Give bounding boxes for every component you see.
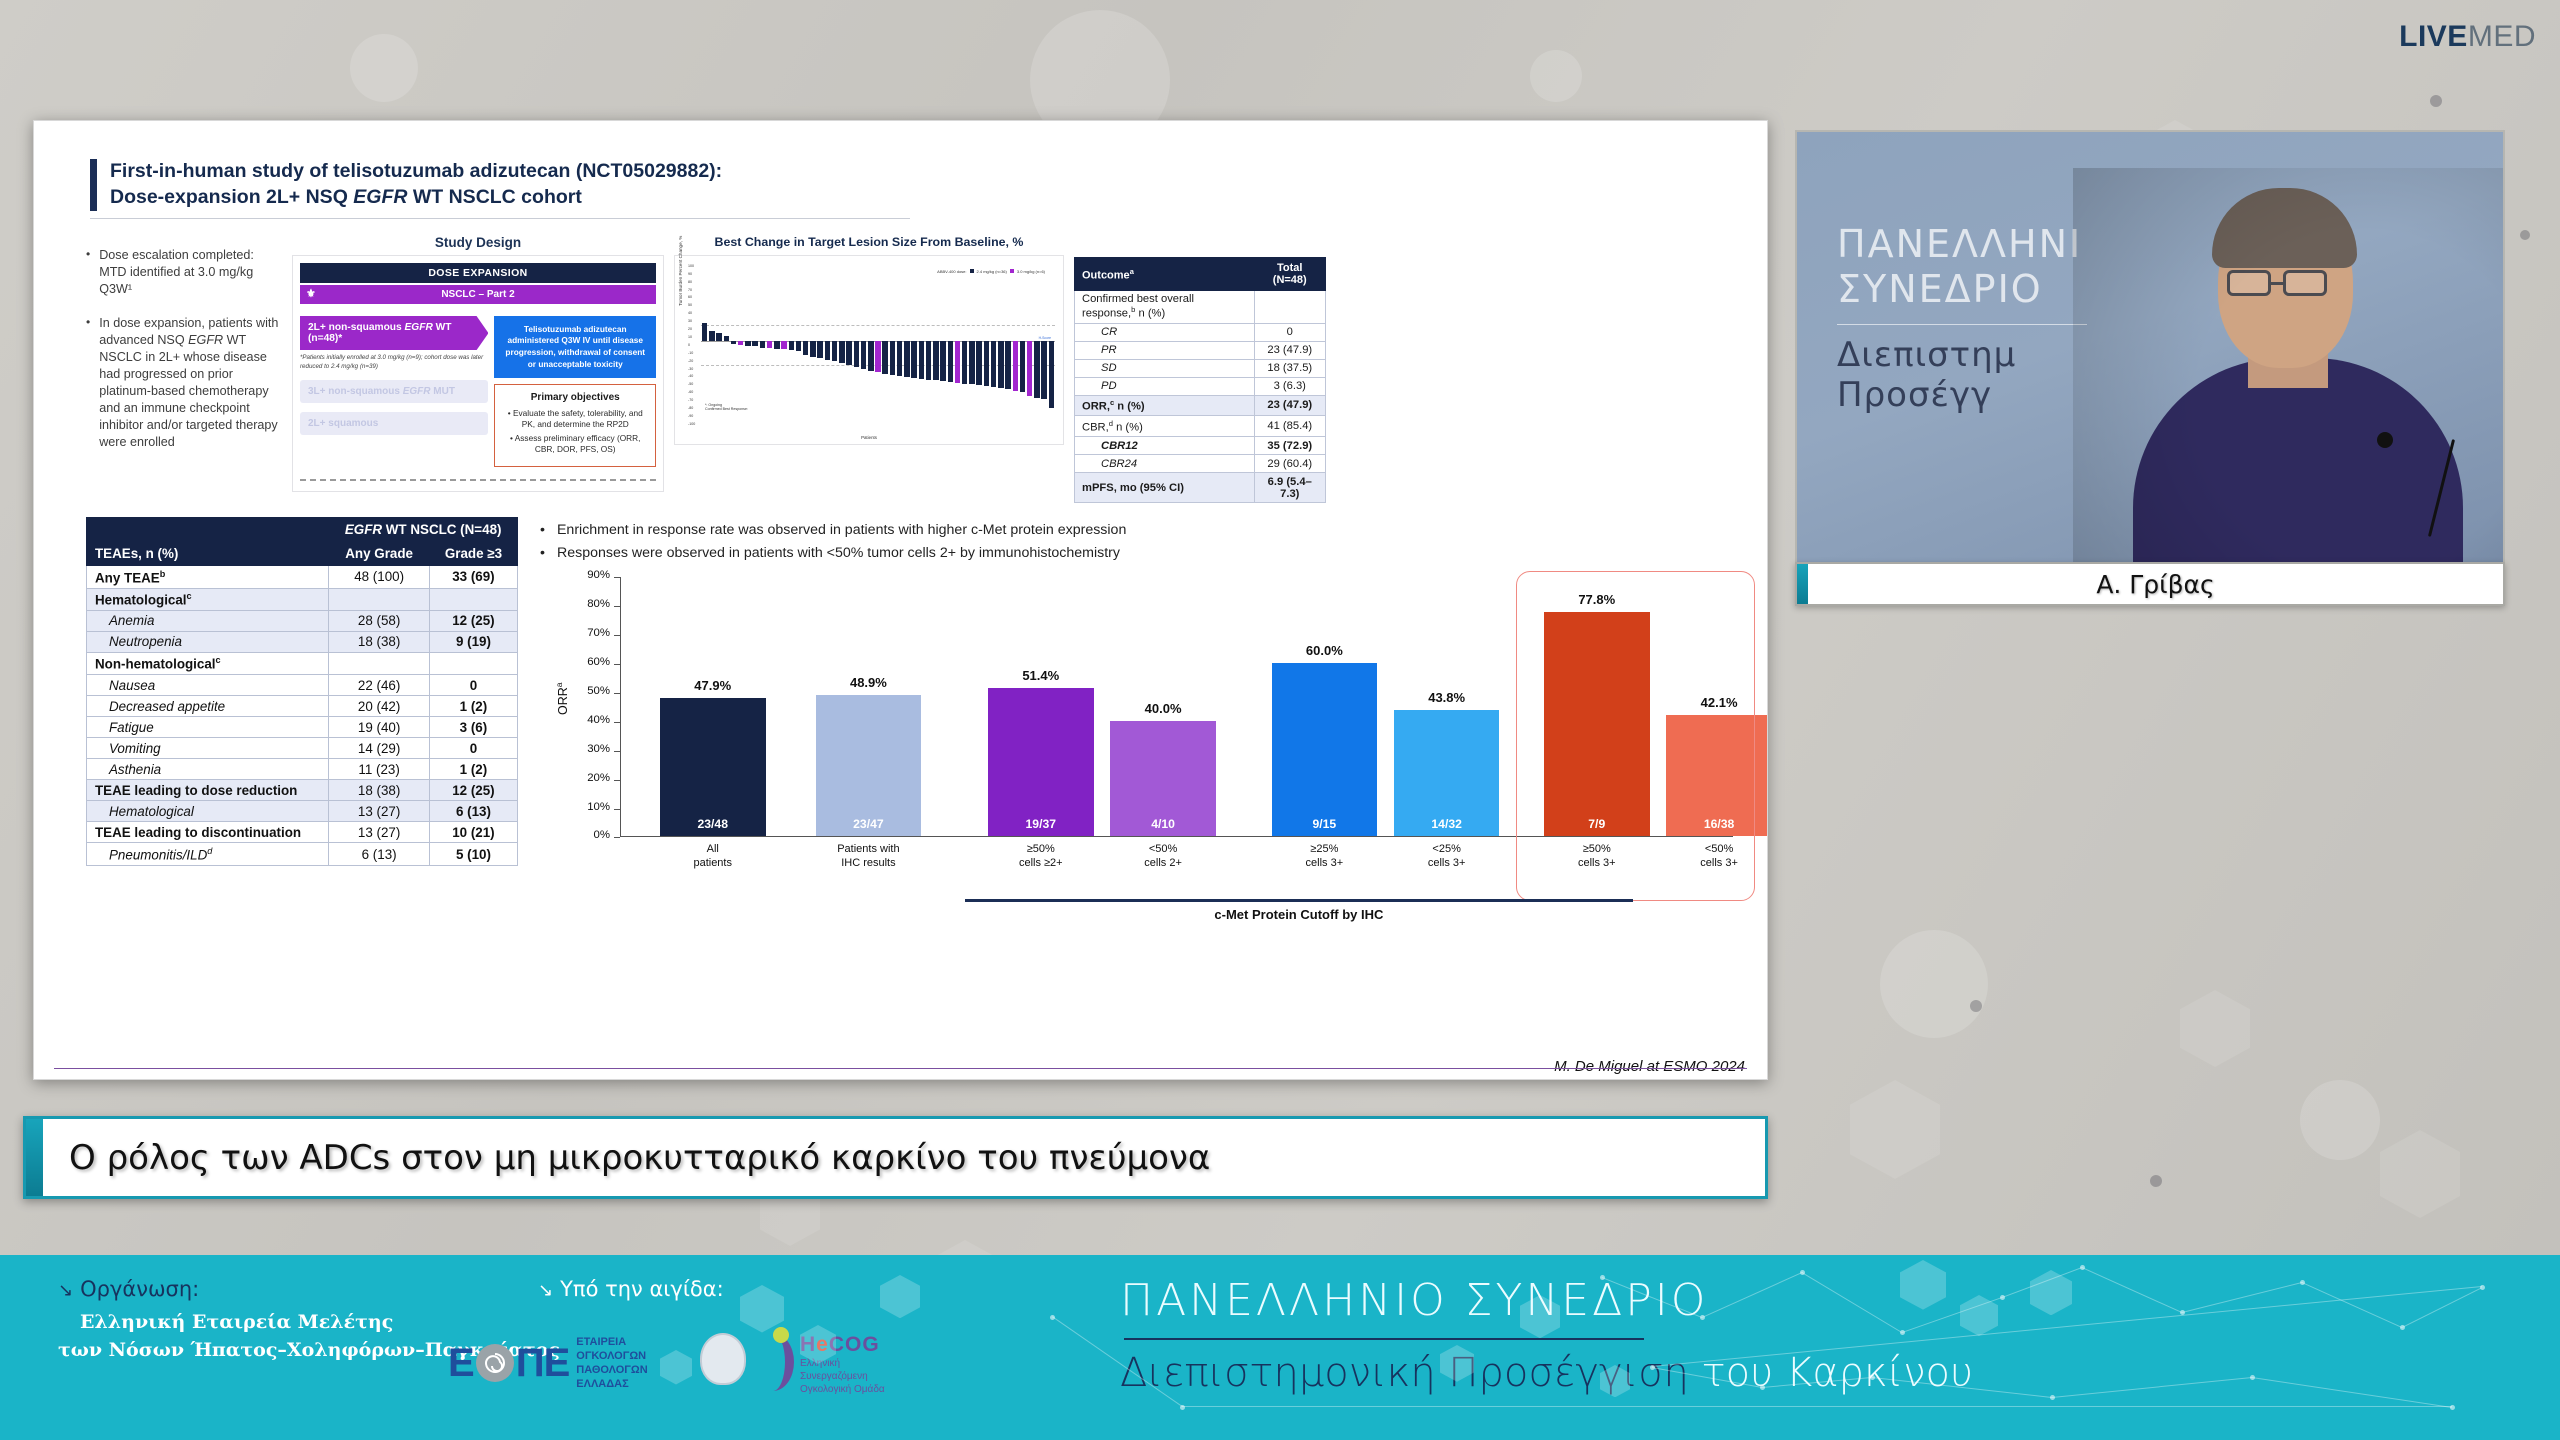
- orr-y-tick: 50%: [570, 685, 610, 697]
- outcome-row-label: PR: [1075, 341, 1255, 359]
- outcome-row-label: mPFS, mo (95% CI): [1075, 473, 1255, 503]
- teae-grade3: 0: [429, 675, 517, 696]
- outcome-row-label: ORR,c n (%): [1075, 395, 1255, 416]
- teae-grade3: 6 (13): [429, 801, 517, 822]
- teae-any-grade: 22 (46): [329, 675, 430, 696]
- orr-x-category: <25%cells 3+: [1360, 843, 1532, 869]
- orr-bar-value-label: 47.9%: [649, 678, 777, 693]
- waterfall-bar: [839, 341, 844, 363]
- bullet-dot-icon: •: [86, 315, 90, 450]
- teae-any-grade: 18 (38): [329, 631, 430, 652]
- teae-any-grade: 14 (29): [329, 738, 430, 759]
- waterfall-bar: [1027, 341, 1032, 396]
- page-footer: ↘Οργάνωση: Ελληνική Εταιρεία Μελέτης των…: [0, 1255, 2560, 1440]
- footer-cube: [880, 1275, 920, 1318]
- study-design-divider: [300, 479, 656, 481]
- waterfall-bar: [760, 341, 765, 348]
- orr-bar-fraction-label: 16/38: [1666, 817, 1768, 831]
- teae-grade3: [429, 652, 517, 674]
- livemed-logo-light: MED: [2468, 20, 2536, 53]
- waterfall-title: Best Change in Target Lesion Size From B…: [674, 235, 1064, 249]
- dot-icon: [773, 1327, 789, 1343]
- background-circle: [1530, 50, 1582, 102]
- waterfall-y-tick: -70: [688, 398, 693, 402]
- table-row: mPFS, mo (95% CI)6.9 (5.4–7.3): [1075, 473, 1326, 503]
- hecog-logo: HeCOG Ελληνική Συνεργαζόμενη Ογκολογική …: [700, 1333, 885, 1396]
- table-row: Neutropenia18 (38)9 (19): [87, 631, 518, 652]
- outcome-row-value: 41 (85.4): [1254, 416, 1325, 437]
- waterfall-legend: ABBV-400 dose: 2.4 mg/kg (n=36) 3.0 mg/k…: [937, 269, 1045, 274]
- table-row: Any TEAEb48 (100)33 (69): [87, 566, 518, 588]
- waterfall-bar: [984, 341, 989, 386]
- list-item: • Enrichment in response rate was observ…: [540, 521, 1743, 540]
- dose-expansion-banner: DOSE EXPANSION: [300, 263, 656, 283]
- table-row: Asthenia11 (23)1 (2): [87, 759, 518, 780]
- bullet-text: Responses were observed in patients with…: [557, 544, 1120, 563]
- video-vignette: [2073, 168, 2503, 568]
- teae-grade3: [429, 588, 517, 610]
- legend-swatch-24: [970, 269, 974, 273]
- waterfall-bar: [962, 341, 967, 384]
- table-row: TEAE leading to discontinuation13 (27)10…: [87, 822, 518, 843]
- orr-bar-value-label: 51.4%: [977, 668, 1105, 683]
- waterfall-bar: [861, 341, 866, 369]
- waterfall-bar: [1020, 341, 1025, 392]
- teae-any-grade: [329, 588, 430, 610]
- teae-grade3: 12 (25): [429, 610, 517, 631]
- orr-x-category: Allpatients: [627, 843, 799, 869]
- orr-bar-value-label: 43.8%: [1383, 690, 1511, 705]
- teae-any-grade: 13 (27): [329, 822, 430, 843]
- table-row: Non-hematologicalc: [87, 652, 518, 674]
- cohort-arrow-2l-nonsq: 2L+ non-squamous EGFR WT (n=48)*: [300, 316, 488, 350]
- waterfall-y-tick: 90: [688, 272, 692, 276]
- orr-bar-fraction-label: 23/47: [816, 817, 922, 831]
- swoosh-icon: [752, 1333, 794, 1391]
- waterfall-bar: [796, 341, 801, 351]
- teae-row-label: Vomiting: [87, 738, 329, 759]
- outcome-row-label: CR: [1075, 323, 1255, 341]
- waterfall-bar: [738, 341, 743, 345]
- outcome-row-label: Confirmed best overall response,b n (%): [1075, 290, 1255, 323]
- slide-bottom-rule: [54, 1068, 1747, 1069]
- teae-any-grade: 19 (40): [329, 717, 430, 738]
- table-row: Decreased appetite20 (42)1 (2): [87, 696, 518, 717]
- orr-x-category: <50%cells 2+: [1077, 843, 1249, 869]
- teae-grade3: 33 (69): [429, 566, 517, 588]
- teae-row-label: Non-hematologicalc: [87, 652, 329, 674]
- outcome-row-label: CBR,d n (%): [1075, 416, 1255, 437]
- primary-objectives-box: Primary objectives • Evaluate the safety…: [494, 384, 656, 466]
- list-item: • Responses were observed in patients wi…: [540, 544, 1743, 563]
- arrow-down-right-icon: ↘: [538, 1280, 553, 1300]
- waterfall-bar: [731, 341, 736, 344]
- teae-grade3-header: Grade ≥3: [429, 542, 517, 566]
- orr-x-category: Patients withIHC results: [782, 843, 954, 869]
- teae-any-grade: 13 (27): [329, 801, 430, 822]
- waterfall-bar: [868, 341, 873, 371]
- table-row: CBR1235 (72.9): [1075, 437, 1326, 455]
- teae-grade3: 12 (25): [429, 780, 517, 801]
- background-polygon: [1850, 1080, 1940, 1179]
- background-dot: [2150, 1175, 2162, 1187]
- objective-item: • Assess preliminary efficacy (ORR, CBR,…: [500, 433, 650, 455]
- eope-letters: E ΠE: [448, 1341, 569, 1386]
- background-dot: [2520, 230, 2530, 240]
- orr-bar-chart: ORRa 47.9%23/48Allpatients48.9%23/47Pati…: [540, 577, 1743, 877]
- orr-y-tickmark: [614, 837, 620, 838]
- classical-head-icon: [700, 1333, 746, 1385]
- table-row: Fatigue19 (40)3 (6): [87, 717, 518, 738]
- waterfall-bar: [774, 341, 779, 349]
- backdrop-line1: ΠΑΝΕΛΛΗΝΙ: [1837, 222, 2087, 267]
- teae-grade3: 0: [429, 738, 517, 759]
- talk-title: Ο ρόλος των ADCs στον μη μικροκυτταρικό …: [69, 1138, 1210, 1178]
- orr-y-tickmark: [614, 809, 620, 810]
- slide-title-line1: First-in-human study of telisotuzumab ad…: [110, 159, 722, 185]
- orr-bar-fraction-label: 9/15: [1272, 817, 1378, 831]
- footer-network-line: [2082, 1267, 2182, 1313]
- conference-title-rule: [1124, 1338, 1644, 1340]
- orr-y-tickmark: [614, 780, 620, 781]
- speaker-video[interactable]: ΠΑΝΕΛΛΗΝΙ ΣΥΝΕΔΡΙΟ Διεπιστημ Προσέγγ: [1795, 130, 2505, 570]
- speaker-name-bar: Α. Γρίβας: [1795, 562, 2505, 606]
- objective-item: • Evaluate the safety, tolerability, and…: [500, 408, 650, 430]
- orr-bar-fraction-label: 23/48: [660, 817, 766, 831]
- list-item: • Dose escalation completed: MTD identif…: [86, 247, 280, 298]
- orr-y-tickmark: [614, 577, 620, 578]
- outcome-row-label: CBR12: [1075, 437, 1255, 455]
- outcome-row-value: 35 (72.9): [1254, 437, 1325, 455]
- table-row: PD3 (6.3): [1075, 377, 1326, 395]
- footer-cube: [740, 1285, 784, 1333]
- waterfall-bar: [846, 341, 851, 365]
- footer-network-line: [1182, 1406, 2452, 1407]
- waterfall-bar: [897, 341, 902, 377]
- table-row: Vomiting14 (29)0: [87, 738, 518, 759]
- waterfall-bar: [911, 341, 916, 378]
- teae-group-header: EGFR WT NSCLC (N=48): [329, 518, 518, 542]
- waterfall-y-tick: 30: [688, 319, 692, 323]
- orr-x-category: <50%cells 3+: [1633, 843, 1768, 869]
- outcome-row-value: [1254, 290, 1325, 323]
- footer-network-line: [2302, 1282, 2402, 1328]
- waterfall-y-tick: -100: [688, 422, 695, 426]
- hecog-subtitle: Ελληνική Συνεργαζόμενη Ογκολογική Ομάδα: [800, 1357, 885, 1396]
- teae-row-label: Hematologicalc: [87, 588, 329, 610]
- backdrop-line2: ΣΥΝΕΔΡΙΟ: [1837, 267, 2087, 312]
- organizer-name-line1: Ελληνική Εταιρεία Μελέτης: [80, 1309, 560, 1337]
- orr-y-tick: 40%: [570, 714, 610, 726]
- teae-row-label: TEAE leading to discontinuation: [87, 822, 329, 843]
- waterfall-bar: [998, 341, 1003, 388]
- footer-auspices-block: ↘Υπό την αιγίδα:: [538, 1277, 724, 1301]
- teae-any-grade: 48 (100): [329, 566, 430, 588]
- orr-bar-value-label: 60.0%: [1260, 643, 1388, 658]
- outcome-row-value: 3 (6.3): [1254, 377, 1325, 395]
- list-item: • In dose expansion, patients with advan…: [86, 315, 280, 450]
- waterfall-bar: [955, 341, 960, 383]
- waterfall-bar: [969, 341, 974, 384]
- table-row: CBR,d n (%)41 (85.4): [1075, 416, 1326, 437]
- outcome-col-header: Outcomea: [1075, 257, 1255, 290]
- outcome-row-value: 23 (47.9): [1254, 395, 1325, 416]
- orr-y-tick: 0%: [570, 829, 610, 841]
- waterfall-x-axis-label: Patients: [679, 435, 1059, 440]
- waterfall-bar: [716, 333, 721, 341]
- waterfall-y-tick: 70: [688, 288, 692, 292]
- orr-y-tickmark: [614, 751, 620, 752]
- orr-y-tick: 80%: [570, 598, 610, 610]
- outcome-row-value: 0: [1254, 323, 1325, 341]
- waterfall-bar: [745, 341, 750, 346]
- footer-conference-title: ΠΑΝΕΛΛΗΝΙΟ ΣΥΝΕΔΡΙΟ Διεπιστημονική Προσέ…: [1120, 1275, 1973, 1396]
- eope-subtitle: ΕΤΑΙΡΕΙΑ ΟΓΚΟΛΟΓΩΝ ΠΑΘΟΛΟΓΩΝ ΕΛΛΑΔΑΣ: [576, 1335, 647, 1391]
- waterfall-y-tick: -90: [688, 414, 693, 418]
- background-polygon: [2180, 990, 2250, 1067]
- background-polygon: [2380, 1130, 2460, 1218]
- teae-any-grade: 6 (13): [329, 843, 430, 865]
- backdrop-line3: Διεπιστημ: [1837, 335, 2087, 375]
- orr-bar-fraction-label: 7/9: [1544, 817, 1650, 831]
- waterfall-y-tick: -30: [688, 367, 693, 371]
- teae-grade3: 5 (10): [429, 843, 517, 865]
- teae-any-grade: [329, 652, 430, 674]
- outcome-row-label: PD: [1075, 377, 1255, 395]
- cohort-ghost-3l-mut: 3L+ non-squamous EGFR MUT: [300, 380, 488, 403]
- waterfall-y-tick: 50: [688, 303, 692, 307]
- teae-any-grade: 28 (58): [329, 610, 430, 631]
- waterfall-bar: [904, 341, 909, 377]
- orr-bar: [988, 688, 1094, 836]
- table-row: TEAE leading to dose reduction18 (38)12 …: [87, 780, 518, 801]
- outcome-row-label: CBR24: [1075, 455, 1255, 473]
- teae-row-label: Anemia: [87, 610, 329, 631]
- bullet-text: In dose expansion, patients with advance…: [99, 315, 280, 450]
- teae-grade3: 10 (21): [429, 822, 517, 843]
- slide-citation: M. De Miguel at ESMO 2024: [1554, 1058, 1745, 1075]
- outcome-row-value: 29 (60.4): [1254, 455, 1325, 473]
- footer-cube: [2030, 1270, 2072, 1315]
- waterfall-bar: [976, 341, 981, 385]
- waterfall-y-axis-label: Tumor Burden Percent Change, %: [678, 236, 683, 306]
- waterfall-bar: [810, 341, 815, 357]
- conference-title-line2: Διεπιστημονική Προσέγγιση του Καρκίνου: [1120, 1350, 1973, 1396]
- backdrop-rule: [1837, 324, 2087, 325]
- waterfall-bar: [875, 341, 880, 373]
- orr-bar: [1544, 612, 1650, 837]
- table-row: Confirmed best overall response,b n (%): [1075, 290, 1326, 323]
- waterfall-y-tick: -60: [688, 390, 693, 394]
- waterfall-bar: [919, 341, 924, 379]
- waterfall-bar: [940, 341, 945, 381]
- waterfall-legend-title: ABBV-400 dose:: [937, 269, 966, 274]
- waterfall-hscore-label: H-Score: [1039, 336, 1051, 340]
- background-dot: [2430, 95, 2442, 107]
- teae-anygrade-header: Any Grade: [329, 542, 430, 566]
- teae-grade3: 3 (6): [429, 717, 517, 738]
- waterfall-bar: [781, 341, 786, 349]
- teae-row-label: Neutropenia: [87, 631, 329, 652]
- waterfall-plot-area: H-Score: [701, 262, 1055, 420]
- table-row: Hematologicalc: [87, 588, 518, 610]
- lung-icon: ⚜: [306, 287, 316, 300]
- bullet-dot-icon: •: [540, 521, 545, 540]
- waterfall-y-tick: 80: [688, 280, 692, 284]
- waterfall-bar: [1041, 341, 1046, 399]
- teae-row-label: Fatigue: [87, 717, 329, 738]
- waterfall-bar: [752, 341, 757, 347]
- video-backdrop-text: ΠΑΝΕΛΛΗΝΙ ΣΥΝΕΔΡΙΟ Διεπιστημ Προσέγγ: [1837, 222, 2087, 415]
- orr-y-tick: 90%: [570, 569, 610, 581]
- orr-y-tick: 30%: [570, 743, 610, 755]
- nsclc-part-banner: ⚜ NSCLC – Part 2: [300, 285, 656, 304]
- orr-bar-fraction-label: 4/10: [1110, 817, 1216, 831]
- speaker-accent-bar: [1797, 564, 1808, 604]
- cmet-underline: [965, 899, 1633, 902]
- orr-y-tick: 10%: [570, 801, 610, 813]
- waterfall-bar: [890, 341, 895, 375]
- teae-grade3: 9 (19): [429, 631, 517, 652]
- teae-any-grade: 11 (23): [329, 759, 430, 780]
- waterfall-bar: [702, 323, 707, 341]
- orr-y-axis-label: ORRa: [554, 683, 570, 716]
- orr-bar-fraction-label: 14/32: [1394, 817, 1500, 831]
- table-row: ORR,c n (%)23 (47.9): [1075, 395, 1326, 416]
- teae-row-label: Pneumonitis/ILDd: [87, 843, 329, 865]
- orr-plot-area: 47.9%23/48Allpatients48.9%23/47Patients …: [620, 577, 1733, 837]
- organizer-label-row: ↘Οργάνωση:: [58, 1277, 560, 1301]
- teae-row-label: Decreased appetite: [87, 696, 329, 717]
- waterfall-bar: [854, 341, 859, 367]
- outcome-total-header: Total (N=48): [1254, 257, 1325, 290]
- orr-bar-fraction-label: 19/37: [988, 817, 1094, 831]
- slide-title-line2: Dose-expansion 2L+ NSQ EGFR WT NSCLC coh…: [110, 185, 722, 211]
- legend-swatch-30: [1010, 269, 1014, 273]
- orr-y-tickmark: [614, 635, 620, 636]
- teae-row-label: Asthenia: [87, 759, 329, 780]
- livemed-logo-bold: LIVE: [2399, 20, 2468, 53]
- legend-label-30: 3.0 mg/kg (n=6): [1017, 269, 1045, 274]
- waterfall-bar: [1013, 341, 1018, 391]
- table-row: Anemia28 (58)12 (25): [87, 610, 518, 631]
- orr-y-tickmark: [614, 722, 620, 723]
- footer-network-line: [2052, 1377, 2252, 1398]
- talk-accent-bar: [26, 1119, 43, 1196]
- teae-row-label: TEAE leading to dose reduction: [87, 780, 329, 801]
- waterfall-bar: [948, 341, 953, 382]
- waterfall-bar: [991, 341, 996, 388]
- teae-table: TEAEs, n (%) EGFR WT NSCLC (N=48) Any Gr…: [86, 517, 518, 866]
- organizer-label: Οργάνωση:: [80, 1277, 199, 1301]
- waterfall-y-tick: 0: [688, 343, 690, 347]
- spiral-icon: [476, 1344, 514, 1382]
- orr-x-axis-label: c-Met Protein Cutoff by IHC: [954, 907, 1644, 922]
- waterfall-bar: [724, 336, 729, 341]
- slide-left-bullets: • Dose escalation completed: MTD identif…: [86, 235, 286, 503]
- outcome-row-value: 6.9 (5.4–7.3): [1254, 473, 1325, 503]
- table-row: Hematological13 (27)6 (13): [87, 801, 518, 822]
- teae-grade3: 1 (2): [429, 696, 517, 717]
- waterfall-y-tick: -50: [688, 382, 693, 386]
- slide-title-block: First-in-human study of telisotuzumab ad…: [90, 159, 910, 219]
- background-dot: [1970, 1000, 1982, 1012]
- background-circle: [350, 34, 418, 102]
- waterfall-y-tick: 40: [688, 311, 692, 315]
- bullet-text: Dose escalation completed: MTD identifie…: [99, 247, 280, 298]
- study-design-panel: Study Design DOSE EXPANSION ⚜ NSCLC – Pa…: [292, 235, 664, 503]
- teae-table-panel: TEAEs, n (%) EGFR WT NSCLC (N=48) Any Gr…: [86, 517, 518, 877]
- study-design-heading: Study Design: [292, 235, 664, 250]
- orr-y-tickmark: [614, 606, 620, 607]
- background-circle: [1880, 930, 1988, 1038]
- waterfall-dashline-pos20: [701, 325, 1055, 326]
- orr-bar: [660, 698, 766, 836]
- waterfall-bar: [832, 341, 837, 362]
- orr-bar: [816, 695, 922, 836]
- presentation-slide[interactable]: First-in-human study of telisotuzumab ad…: [33, 120, 1768, 1080]
- slide-title: First-in-human study of telisotuzumab ad…: [110, 159, 722, 211]
- teae-row-label: Hematological: [87, 801, 329, 822]
- orr-y-tickmark: [614, 664, 620, 665]
- teae-row-label: Any TEAEb: [87, 566, 329, 588]
- orr-bar-value-label: 77.8%: [1533, 592, 1661, 607]
- teae-col-header: TEAEs, n (%): [87, 518, 329, 566]
- waterfall-chart-panel: Best Change in Target Lesion Size From B…: [674, 235, 1064, 503]
- nsclc-part-label: NSCLC – Part 2: [441, 289, 514, 300]
- teae-grade3: 1 (2): [429, 759, 517, 780]
- orr-bar-value-label: 40.0%: [1099, 701, 1227, 716]
- waterfall-bar: [709, 331, 714, 340]
- background-circle: [2300, 1080, 2380, 1160]
- bullet-text: Enrichment in response rate was observed…: [557, 521, 1126, 540]
- orr-y-tick: 20%: [570, 772, 610, 784]
- waterfall-bar: [882, 341, 887, 374]
- orr-bar-value-label: 48.9%: [804, 675, 932, 690]
- talk-title-banner: Ο ρόλος των ADCs στον μη μικροκυτταρικό …: [23, 1116, 1768, 1199]
- waterfall-y-tick: 10: [688, 335, 692, 339]
- table-row: Pneumonitis/ILDd6 (13)5 (10): [87, 843, 518, 865]
- footer-cube: [660, 1350, 692, 1385]
- waterfall-bar: [933, 341, 938, 381]
- outcome-row-value: 23 (47.9): [1254, 341, 1325, 359]
- orr-y-tickmark: [614, 693, 620, 694]
- orr-y-tick: 70%: [570, 627, 610, 639]
- legend-label-24: 2.4 mg/kg (n=36): [977, 269, 1007, 274]
- waterfall-y-tick: -20: [688, 359, 693, 363]
- speaker-name: Α. Γρίβας: [1808, 570, 2503, 599]
- primary-objectives-title: Primary objectives: [500, 391, 650, 405]
- orr-bar: [1272, 663, 1378, 836]
- waterfall-bar: [1049, 341, 1054, 408]
- cohort-footnote: *Patients initially enrolled at 3.0 mg/k…: [300, 354, 488, 371]
- outcome-table-panel: Outcomea Total (N=48) Confirmed best ove…: [1074, 235, 1326, 503]
- teae-row-label: Nausea: [87, 675, 329, 696]
- auspices-label: Υπό την αιγίδα:: [560, 1277, 724, 1301]
- waterfall-y-tick: 20: [688, 327, 692, 331]
- waterfall-bar: [1005, 341, 1010, 389]
- table-row: CR0: [1075, 323, 1326, 341]
- bullet-dot-icon: •: [540, 544, 545, 563]
- orr-bar-value-label: 42.1%: [1655, 695, 1768, 710]
- table-row: CBR2429 (60.4): [1075, 455, 1326, 473]
- waterfall-bar: [825, 341, 830, 360]
- orr-chart-panel: • Enrichment in response rate was observ…: [540, 517, 1743, 877]
- bullet-dot-icon: •: [86, 247, 90, 298]
- livemed-logo: LIVEMED: [2399, 20, 2536, 54]
- waterfall-bar: [803, 341, 808, 355]
- outcome-table: Outcomea Total (N=48) Confirmed best ove…: [1074, 257, 1326, 503]
